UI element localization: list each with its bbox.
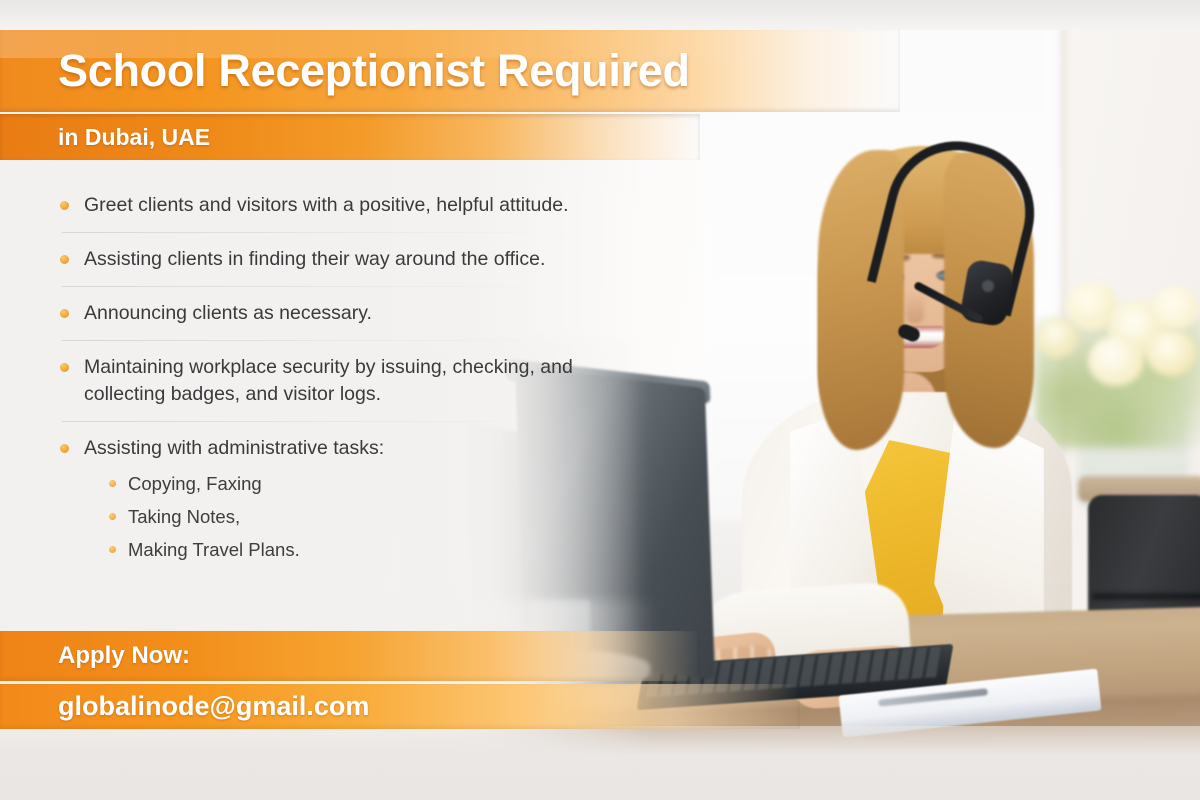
list-item-text: Announcing clients as necessary. [84, 300, 656, 327]
list-item: Assisting clients in finding their way a… [56, 246, 656, 273]
job-advert-poster: School Receptionist Required in Dubai, U… [0, 0, 1200, 800]
list-separator [62, 340, 582, 341]
location-banner: in Dubai, UAE [0, 114, 700, 160]
sub-list-item-text: Copying, Faxing [128, 471, 656, 496]
rose-flower [1036, 318, 1078, 358]
page-title: School Receptionist Required [58, 45, 690, 97]
headset-button [982, 280, 994, 292]
list-item: Greet clients and visitors with a positi… [56, 192, 656, 219]
bullet-dot-icon [60, 363, 69, 372]
list-item-text: Greet clients and visitors with a positi… [84, 192, 656, 219]
top-edge-wash [0, 0, 1200, 30]
list-item-text: Assisting clients in finding their way a… [84, 246, 656, 273]
list-item-text: Assisting with administrative tasks: [84, 435, 656, 462]
sub-task-list: Copying, Faxing Taking Notes, Making Tra… [106, 471, 656, 562]
bullet-dot-icon [60, 255, 69, 264]
bullet-dot-icon [109, 546, 116, 553]
title-banner: School Receptionist Required [0, 30, 900, 112]
bullet-dot-icon [109, 513, 116, 520]
chair-seam [1092, 593, 1200, 600]
list-separator [62, 286, 582, 287]
sub-list-item: Taking Notes, [106, 504, 656, 529]
list-item-text: Maintaining workplace security by issuin… [84, 354, 656, 408]
bullet-dot-icon [60, 309, 69, 318]
email-banner[interactable]: globalinode@gmail.com [0, 684, 800, 729]
list-item: Maintaining workplace security by issuin… [56, 354, 656, 408]
list-item: Assisting with administrative tasks: Cop… [56, 435, 656, 562]
rose-flower [1088, 336, 1144, 386]
sub-list-item: Copying, Faxing [106, 471, 656, 496]
bullet-dot-icon [60, 444, 69, 453]
nose [906, 292, 924, 324]
sub-list-item: Making Travel Plans. [106, 537, 656, 562]
sub-list-item-text: Taking Notes, [128, 504, 656, 529]
bottom-edge-wash [0, 726, 1200, 800]
sub-list-item-text: Making Travel Plans. [128, 537, 656, 562]
location-text: in Dubai, UAE [58, 124, 210, 151]
rose-flower [1146, 330, 1196, 376]
bullet-dot-icon [109, 480, 116, 487]
list-separator [62, 232, 582, 233]
responsibilities-list: Greet clients and visitors with a positi… [56, 192, 656, 570]
contact-email[interactable]: globalinode@gmail.com [58, 691, 369, 722]
apply-now-banner: Apply Now: [0, 631, 700, 681]
list-separator [62, 421, 582, 422]
list-item: Announcing clients as necessary. [56, 300, 656, 327]
bullet-dot-icon [60, 201, 69, 210]
rose-flower [1152, 286, 1198, 330]
apply-now-label: Apply Now: [58, 642, 190, 670]
